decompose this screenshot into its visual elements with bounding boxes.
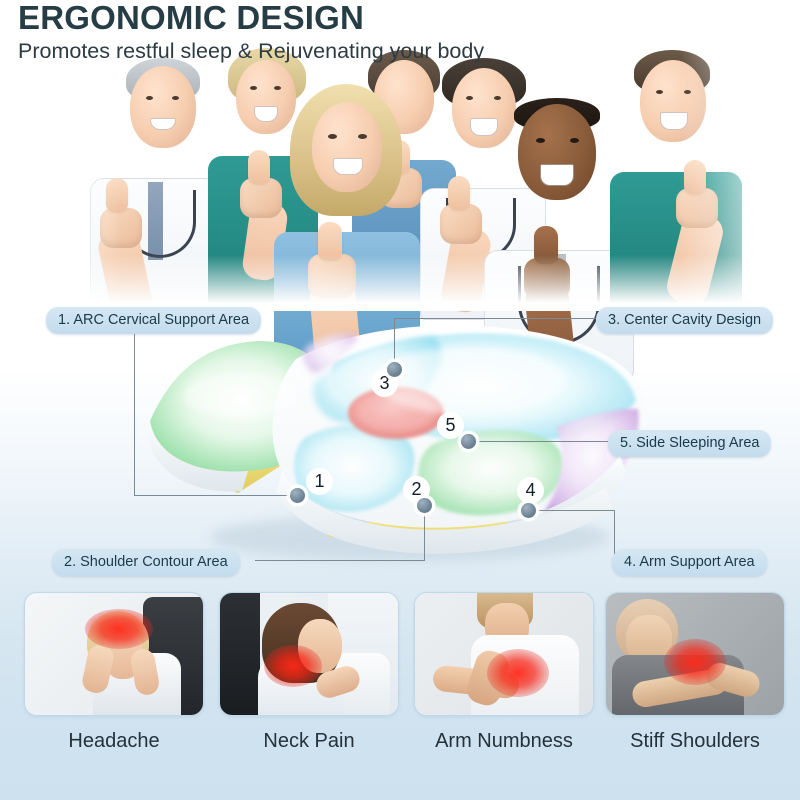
- neck-pain-photo: [220, 593, 398, 715]
- marker-3-dot: [387, 362, 402, 377]
- pain-card-stiff-shoulders[interactable]: [605, 592, 785, 716]
- leader-line-2: [424, 505, 425, 561]
- callout-label-1[interactable]: 1. ARC Cervical Support Area: [46, 307, 261, 334]
- pain-caption-stiff-shoulders: Stiff Shoulders: [605, 730, 785, 753]
- marker-4-number: 4: [517, 477, 544, 504]
- pain-glow-neck: [264, 645, 322, 687]
- marker-4-dot: [521, 503, 536, 518]
- marker-5-number: 5: [437, 412, 464, 439]
- page-subtitle: Promotes restful sleep & Rejuvenating yo…: [18, 38, 484, 64]
- callout-label-2[interactable]: 2. Shoulder Contour Area: [52, 549, 240, 576]
- marker-2-dot: [417, 498, 432, 513]
- leader-line-5: [468, 441, 610, 442]
- pain-caption-arm-numbness: Arm Numbness: [414, 730, 594, 753]
- pain-glow-head: [85, 609, 153, 649]
- leader-line-4: [535, 510, 615, 511]
- stiff-shoulders-photo: [606, 593, 784, 715]
- pain-card-neck-pain[interactable]: [219, 592, 399, 716]
- callout-label-4[interactable]: 4. Arm Support Area: [612, 549, 767, 576]
- pain-glow-shoulder: [664, 639, 726, 685]
- pain-glow-arm: [487, 649, 549, 697]
- leader-line-1: [134, 330, 135, 496]
- page-title: ERGONOMIC DESIGN: [18, 0, 484, 36]
- pain-points-row: Headache Neck Pain Arm Numbness: [0, 592, 800, 800]
- callout-label-5[interactable]: 5. Side Sleeping Area: [608, 430, 771, 457]
- pain-card-headache[interactable]: [24, 592, 204, 716]
- pain-caption-headache: Headache: [24, 730, 204, 753]
- doctors-thumbs-up-photo: [0, 52, 800, 307]
- leader-line-2b: [255, 560, 425, 561]
- leader-line-1b: [134, 495, 298, 496]
- leader-line-3b: [394, 318, 596, 319]
- callout-label-3[interactable]: 3. Center Cavity Design: [596, 307, 773, 334]
- pain-caption-neck-pain: Neck Pain: [219, 730, 399, 753]
- headache-photo: [25, 593, 203, 715]
- header: ERGONOMIC DESIGN Promotes restful sleep …: [18, 0, 484, 64]
- arm-numbness-photo: [415, 593, 593, 715]
- pain-card-arm-numbness[interactable]: [414, 592, 594, 716]
- marker-1-number: 1: [306, 468, 333, 495]
- marker-1-dot: [290, 488, 305, 503]
- marker-5-dot: [461, 434, 476, 449]
